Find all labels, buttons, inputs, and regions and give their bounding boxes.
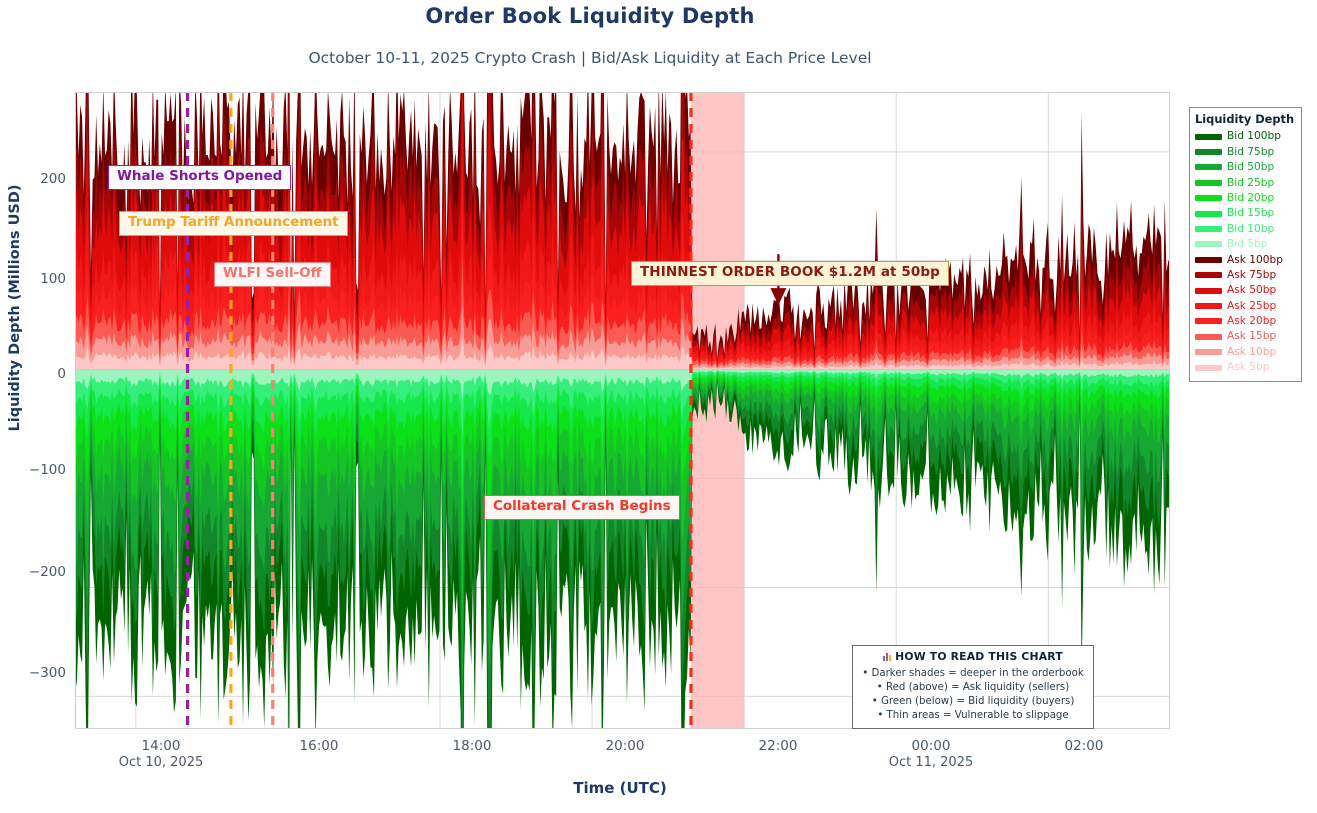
y-tick-neg100: −100 [6,464,66,478]
legend-swatch [1195,180,1222,186]
legend-label: Bid 15bp [1227,208,1274,219]
legend-item-ask-75bp[interactable]: Ask 75bp [1195,268,1296,283]
x-tick-time: 18:00 [453,738,492,754]
legend-item-bid-20bp[interactable]: Bid 20bp [1195,191,1296,206]
legend-swatch [1195,349,1222,355]
legend-item-ask-50bp[interactable]: Ask 50bp [1195,283,1296,298]
x-tick-time: 16:00 [300,738,339,754]
legend-item-bid-5bp[interactable]: Bid 5bp [1195,237,1296,252]
legend-swatch [1195,365,1222,371]
legend-item-bid-50bp[interactable]: Bid 50bp [1195,160,1296,175]
crash-highlight-band [691,92,744,729]
legend-item-ask-15bp[interactable]: Ask 15bp [1195,329,1296,344]
legend-label: Bid 50bp [1227,162,1274,173]
legend-item-ask-10bp[interactable]: Ask 10bp [1195,344,1296,359]
x-tick-time: 22:00 [759,738,798,754]
legend-swatch [1195,318,1222,324]
legend-swatch [1195,211,1222,217]
chart-legend: Liquidity Depth Bid 100bpBid 75bpBid 50b… [1189,107,1302,382]
legend-label: Ask 75bp [1227,270,1276,281]
y-tick-neg200: −200 [6,566,66,580]
legend-label: Ask 10bp [1227,347,1276,358]
x-tick-time: 00:00 [912,738,951,754]
legend-item-bid-75bp[interactable]: Bid 75bp [1195,144,1296,159]
y-tick-100: 100 [6,273,66,287]
how-to-read-line-4: • Thin areas = Vulnerable to slippage [859,709,1087,723]
how-to-read-title-text: HOW TO READ THIS CHART [895,650,1063,663]
how-to-read-box: HOW TO READ THIS CHART • Darker shades =… [852,645,1094,729]
legend-swatch [1195,288,1222,294]
legend-item-ask-100bp[interactable]: Ask 100bp [1195,252,1296,267]
legend-item-ask-25bp[interactable]: Ask 25bp [1195,298,1296,313]
x-tick-0200: 02:00 [1024,738,1144,755]
legend-swatch [1195,241,1222,247]
how-to-read-line-3: • Green (below) = Bid liquidity (buyers) [859,695,1087,709]
how-to-read-title: HOW TO READ THIS CHART [859,650,1087,666]
legend-item-bid-10bp[interactable]: Bid 10bp [1195,221,1296,236]
legend-label: Ask 50bp [1227,285,1276,296]
annotation-trump-tariff: Trump Tariff Announcement [119,211,348,236]
annotation-wlfi-selloff: WLFI Sell-Off [214,262,331,287]
chart-page: Order Book Liquidity Depth October 10-11… [0,0,1317,813]
x-tick-2000: 20:00 [565,738,685,755]
legend-item-ask-20bp[interactable]: Ask 20bp [1195,314,1296,329]
x-tick-0000: 00:00 Oct 11, 2025 [871,738,991,771]
legend-label: Ask 100bp [1227,255,1283,266]
annotation-thinnest-order-book: THINNEST ORDER BOOK $1.2M at 50bp [631,261,949,286]
y-tick-200: 200 [6,173,66,187]
x-tick-date: Oct 10, 2025 [101,755,221,771]
annotation-collateral-crash: Collateral Crash Begins [484,495,680,520]
legend-label: Bid 20bp [1227,193,1274,204]
legend-item-ask-5bp[interactable]: Ask 5bp [1195,360,1296,375]
how-to-read-line-1: • Darker shades = deeper in the orderboo… [859,667,1087,681]
bar-chart-icon [883,651,892,666]
legend-title: Liquidity Depth [1195,112,1296,126]
legend-label: Bid 100bp [1227,131,1281,142]
legend-label: Ask 25bp [1227,301,1276,312]
legend-swatch [1195,164,1222,170]
legend-swatch [1195,303,1222,309]
page-title: Order Book Liquidity Depth [0,4,1180,28]
y-tick-neg300: −300 [6,667,66,681]
x-tick-time: 14:00 [142,738,181,754]
legend-swatch [1195,195,1222,201]
x-tick-time: 20:00 [606,738,645,754]
legend-swatch [1195,149,1222,155]
legend-label: Bid 10bp [1227,224,1274,235]
y-axis-title: Liquidity Depth (Millions USD) [7,28,23,588]
legend-label: Ask 15bp [1227,331,1276,342]
legend-label: Ask 5bp [1227,362,1269,373]
legend-swatch [1195,334,1222,340]
legend-rows: Bid 100bpBid 75bpBid 50bpBid 25bpBid 20b… [1195,129,1296,375]
legend-item-bid-100bp[interactable]: Bid 100bp [1195,129,1296,144]
legend-label: Ask 20bp [1227,316,1276,327]
x-tick-2200: 22:00 [718,738,838,755]
legend-label: Bid 25bp [1227,178,1274,189]
legend-item-bid-15bp[interactable]: Bid 15bp [1195,206,1296,221]
page-subtitle: October 10-11, 2025 Crypto Crash | Bid/A… [0,49,1180,67]
legend-item-bid-25bp[interactable]: Bid 25bp [1195,175,1296,190]
legend-swatch [1195,272,1222,278]
x-tick-date: Oct 11, 2025 [871,755,991,771]
y-tick-0: 0 [6,368,66,382]
legend-label: Bid 75bp [1227,147,1274,158]
x-tick-1600: 16:00 [259,738,379,755]
annotation-whale-shorts-opened: Whale Shorts Opened [108,165,291,190]
legend-swatch [1195,134,1222,140]
legend-swatch [1195,257,1222,263]
legend-label: Bid 5bp [1227,239,1268,250]
x-tick-1400: 14:00 Oct 10, 2025 [101,738,221,771]
how-to-read-line-2: • Red (above) = Ask liquidity (sellers) [859,681,1087,695]
x-tick-time: 02:00 [1065,738,1104,754]
legend-swatch [1195,226,1222,232]
x-tick-1800: 18:00 [412,738,532,755]
x-axis-title: Time (UTC) [0,779,1240,797]
